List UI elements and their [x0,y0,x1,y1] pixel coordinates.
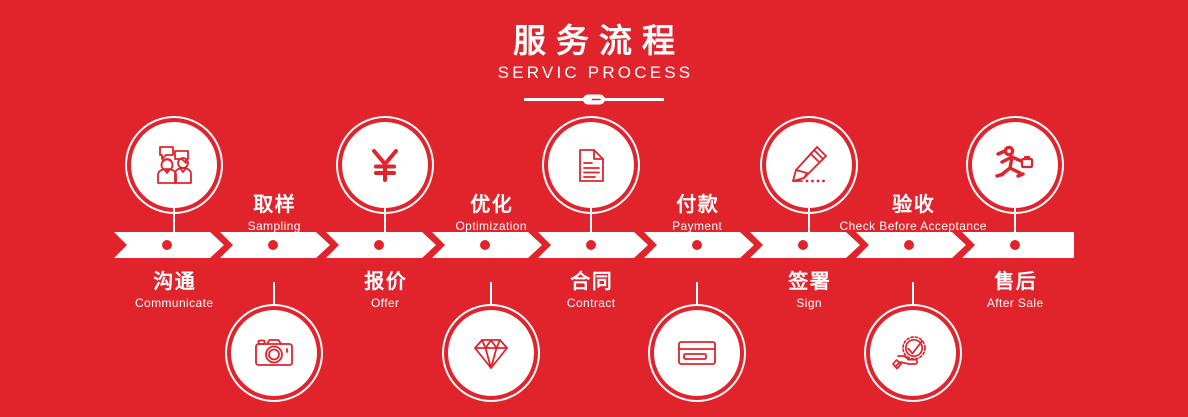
connector-line-7 [808,208,810,234]
connector-line-8 [912,282,914,310]
header-divider [0,91,1188,107]
diamond-icon [448,310,534,396]
camera-icon [231,310,317,396]
process-step-9[interactable]: 售后 After Sale [915,122,1115,311]
step-label-9: 售后 After Sale [915,270,1115,311]
credit-card-icon [654,310,740,396]
page-subtitle: SERVIC PROCESS [0,62,1188,84]
page-title: 服务流程 [0,22,1188,60]
step-label-en: After Sale [915,295,1115,311]
connector-line-3 [384,208,386,234]
connector-line-6 [696,282,698,310]
connector-line-2 [273,282,275,310]
paperclip-icon [572,93,616,106]
hand-check-badge-icon [870,310,956,396]
divider-line-right [608,98,664,101]
page-header: 服务流程 SERVIC PROCESS [0,22,1188,107]
delivery-runner-icon [972,122,1058,208]
connector-line-5 [590,208,592,234]
step-label-cn: 售后 [915,270,1115,295]
connector-line-9 [1014,208,1016,234]
